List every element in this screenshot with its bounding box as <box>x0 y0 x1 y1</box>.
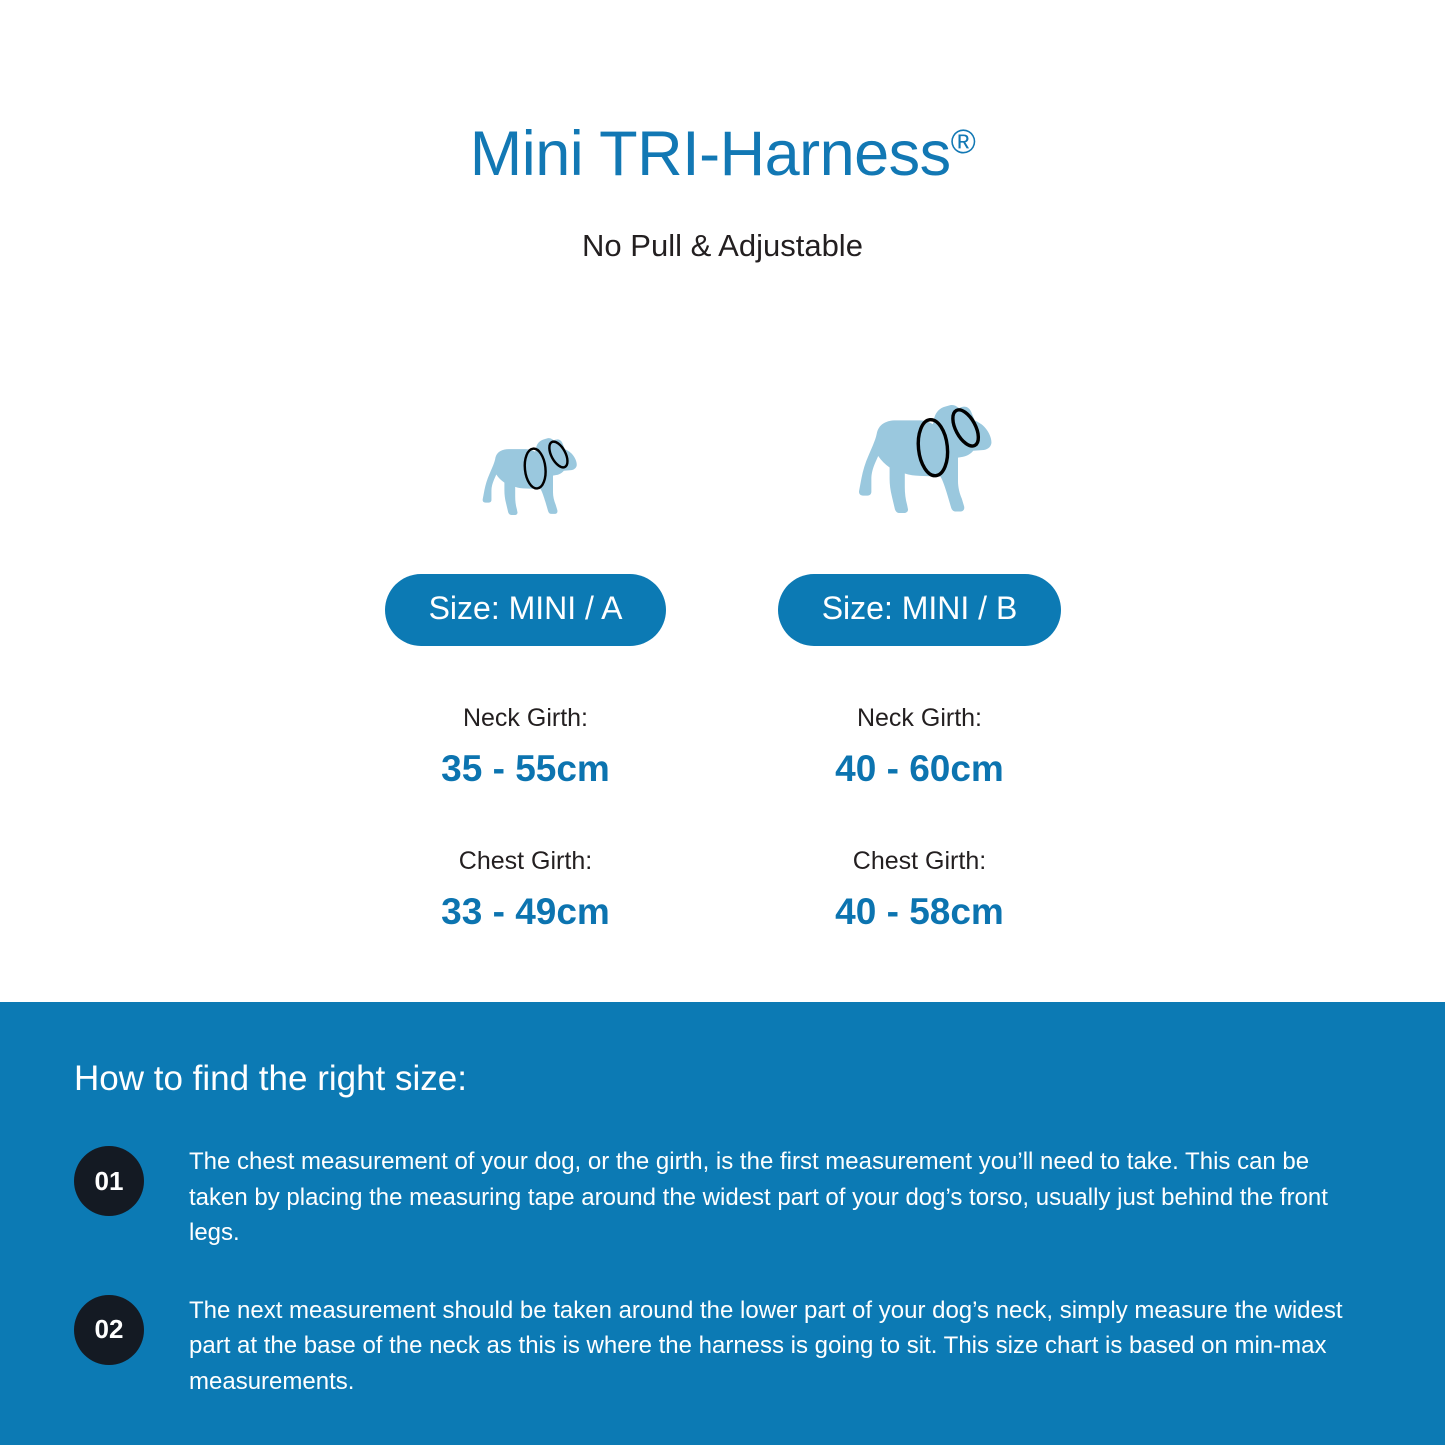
dog-icon-wrap-a <box>472 385 580 520</box>
product-title-text: Mini TRI-Harness <box>470 119 951 189</box>
chest-girth-label: Chest Girth: <box>441 846 610 876</box>
step-number-badge: 01 <box>74 1146 144 1216</box>
how-to-steps-list: 01 The chest measurement of your dog, or… <box>74 1144 1374 1399</box>
dog-icon-wrap-b <box>844 385 996 520</box>
chest-girth-value: 40 - 58cm <box>835 892 1004 933</box>
neck-girth-value: 40 - 60cm <box>835 749 1004 790</box>
product-subtitle: No Pull & Adjustable <box>0 228 1445 264</box>
neck-girth-label: Neck Girth: <box>835 703 1004 733</box>
size-chart-page: Mini TRI-Harness® No Pull & Adjustable S… <box>0 0 1445 1445</box>
how-to-section: How to find the right size: 01 The chest… <box>0 1002 1445 1445</box>
chest-girth-block-a: Chest Girth: 33 - 49cm <box>441 846 610 933</box>
product-header-section: Mini TRI-Harness® No Pull & Adjustable S… <box>0 0 1445 1002</box>
chest-girth-block-b: Chest Girth: 40 - 58cm <box>835 846 1004 933</box>
size-option-mini-a: Size: MINI / A Neck Girth: 35 - 55cm Che… <box>331 385 721 932</box>
step-description: The next measurement should be taken aro… <box>189 1293 1374 1400</box>
size-option-mini-b: Size: MINI / B Neck Girth: 40 - 60cm Che… <box>725 385 1115 932</box>
list-item: 02 The next measurement should be taken … <box>74 1293 1374 1400</box>
dog-silhouette-large-icon <box>844 402 996 520</box>
size-pill-mini-a[interactable]: Size: MINI / A <box>385 574 667 646</box>
size-options-row: Size: MINI / A Neck Girth: 35 - 55cm Che… <box>0 385 1445 932</box>
neck-girth-block-a: Neck Girth: 35 - 55cm <box>441 703 610 790</box>
step-number-badge: 02 <box>74 1295 144 1365</box>
step-description: The chest measurement of your dog, or th… <box>189 1144 1374 1251</box>
neck-girth-block-b: Neck Girth: 40 - 60cm <box>835 703 1004 790</box>
neck-girth-value: 35 - 55cm <box>441 749 610 790</box>
how-to-heading: How to find the right size: <box>74 1060 467 1099</box>
size-pill-mini-b[interactable]: Size: MINI / B <box>778 574 1062 646</box>
chest-girth-value: 33 - 49cm <box>441 892 610 933</box>
neck-girth-label: Neck Girth: <box>441 703 610 733</box>
list-item: 01 The chest measurement of your dog, or… <box>74 1144 1374 1251</box>
chest-girth-label: Chest Girth: <box>835 846 1004 876</box>
registered-trademark-icon: ® <box>951 123 976 161</box>
dog-silhouette-small-icon <box>472 436 580 520</box>
page-title: Mini TRI-Harness® <box>0 120 1445 189</box>
